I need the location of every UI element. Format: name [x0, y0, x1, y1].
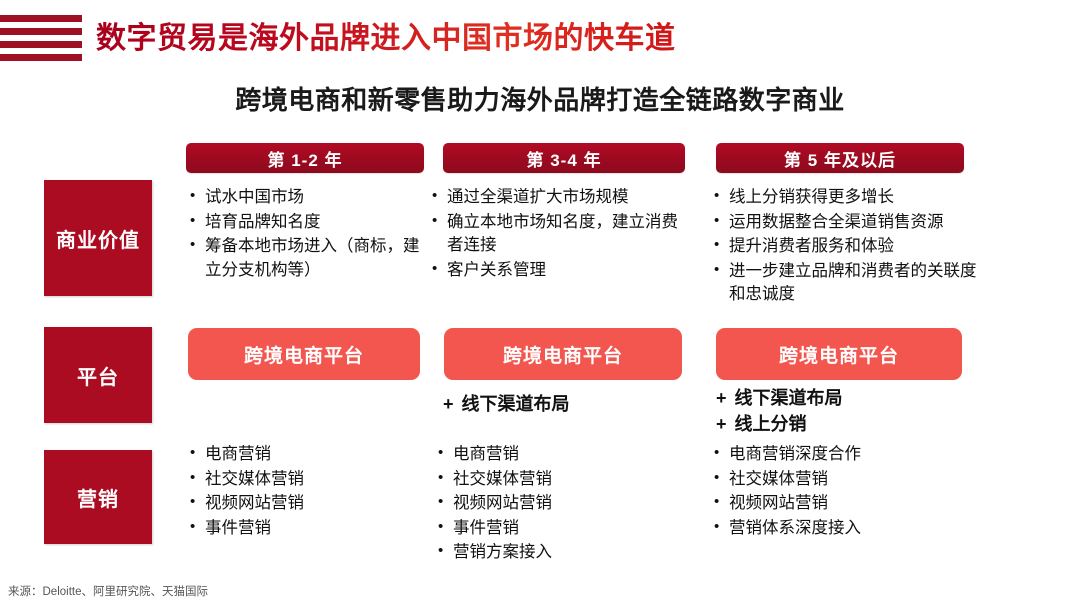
list-item: 电商营销深度合作 [712, 443, 984, 467]
list-item: 客户关系管理 [430, 259, 692, 283]
list-item: 运用数据整合全渠道销售资源 [712, 211, 984, 235]
list-item: 电商营销 [436, 443, 688, 467]
plus-icon: + [716, 388, 727, 408]
list-item: 事件营销 [188, 517, 423, 541]
list-item: 筹备本地市场进入（商标，建立分支机构等） [188, 235, 426, 282]
list-item: 事件营销 [436, 517, 688, 541]
list-item: 营销体系深度接入 [712, 517, 984, 541]
slide-subtitle: 跨境电商和新零售助力海外品牌打造全链路数字商业 [0, 80, 1080, 117]
list-item: 社交媒体营销 [188, 468, 423, 492]
plus-icon: + [716, 414, 727, 434]
platform-extra-col3-online: +线上分销 [716, 410, 807, 436]
list-item: 通过全渠道扩大市场规模 [430, 186, 692, 210]
platform-extra-label: 线下渠道布局 [462, 394, 570, 414]
platform-box-col1: 跨境电商平台 [188, 328, 420, 380]
source-note: 来源：Deloitte、阿里研究院、天猫国际 [8, 583, 208, 599]
platform-extra-label: 线下渠道布局 [735, 388, 843, 408]
marketing-list-col3: 电商营销深度合作 社交媒体营销 视频网站营销 营销体系深度接入 [712, 443, 984, 541]
list-item: 进一步建立品牌和消费者的关联度和忠诚度 [712, 260, 984, 307]
list-item: 营销方案接入 [436, 541, 688, 565]
business-value-list-col3: 线上分销获得更多增长 运用数据整合全渠道销售资源 提升消费者服务和体验 进一步建… [712, 186, 984, 308]
business-value-list-col2: 通过全渠道扩大市场规模 确立本地市场知名度，建立消费者连接 客户关系管理 [430, 186, 692, 283]
row-label-platform: 平台 [44, 327, 152, 423]
marketing-list-col2: 电商营销 社交媒体营销 视频网站营销 事件营销 营销方案接入 [436, 443, 688, 566]
row-label-business-value: 商业价值 [44, 180, 152, 296]
list-item: 确立本地市场知名度，建立消费者连接 [430, 211, 692, 258]
list-item: 视频网站营销 [436, 492, 688, 516]
list-item: 视频网站营销 [188, 492, 423, 516]
slide-header: 数字贸易是海外品牌进入中国市场的快车道 [0, 0, 1080, 72]
list-item: 线上分销获得更多增长 [712, 186, 984, 210]
business-value-list-col1: 试水中国市场 培育品牌知名度 筹备本地市场进入（商标，建立分支机构等） [188, 186, 426, 283]
list-item: 社交媒体营销 [712, 468, 984, 492]
platform-extra-label: 线上分销 [735, 414, 807, 434]
column-header-phase-2: 第 3-4 年 [443, 143, 685, 173]
column-header-phase-1: 第 1-2 年 [186, 143, 424, 173]
list-item: 电商营销 [188, 443, 423, 467]
column-header-phase-3: 第 5 年及以后 [716, 143, 964, 173]
list-item: 视频网站营销 [712, 492, 984, 516]
platform-extra-col2-offline: +线下渠道布局 [443, 390, 570, 416]
platform-box-col2: 跨境电商平台 [444, 328, 682, 380]
plus-icon: + [443, 394, 454, 414]
four-bars-icon [0, 15, 82, 63]
platform-box-col3: 跨境电商平台 [716, 328, 962, 380]
slide: 数字贸易是海外品牌进入中国市场的快车道 跨境电商和新零售助力海外品牌打造全链路数… [0, 0, 1080, 607]
platform-extra-col3-offline: +线下渠道布局 [716, 384, 843, 410]
list-item: 社交媒体营销 [436, 468, 688, 492]
row-label-marketing: 营销 [44, 450, 152, 544]
list-item: 培育品牌知名度 [188, 211, 426, 235]
list-item: 提升消费者服务和体验 [712, 235, 984, 259]
list-item: 试水中国市场 [188, 186, 426, 210]
page-title: 数字贸易是海外品牌进入中国市场的快车道 [96, 13, 676, 57]
marketing-list-col1: 电商营销 社交媒体营销 视频网站营销 事件营销 [188, 443, 423, 541]
